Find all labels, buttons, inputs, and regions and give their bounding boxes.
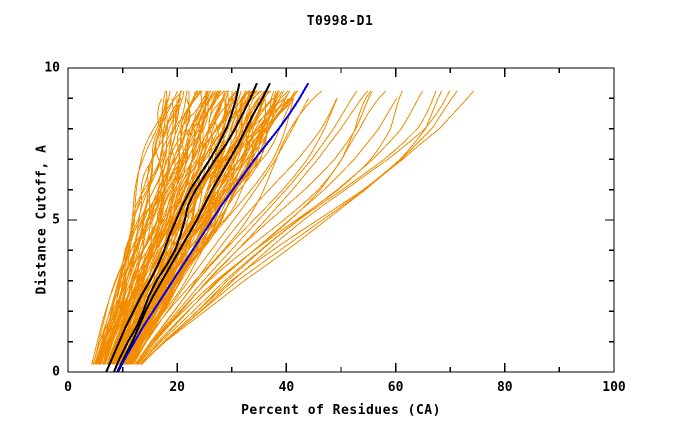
population-curve (138, 98, 397, 364)
y-axis-title: Distance Cutoff, A (35, 100, 50, 340)
x-tick-label: 100 (602, 380, 625, 395)
x-tick-label: 20 (169, 380, 185, 395)
x-tick-label: 0 (64, 380, 72, 395)
y-tick-label: 0 (40, 365, 60, 380)
plot-canvas (0, 0, 680, 440)
x-tick-label: 40 (279, 380, 295, 395)
x-tick-label: 60 (388, 380, 404, 395)
chart-figure: T0998-D1 0204060801000510 Percent of Res… (0, 0, 680, 440)
x-axis-title: Percent of Residues (CA) (68, 403, 614, 418)
y-tick-label: 10 (40, 61, 60, 76)
x-tick-label: 80 (497, 380, 513, 395)
population-curves (92, 91, 474, 365)
